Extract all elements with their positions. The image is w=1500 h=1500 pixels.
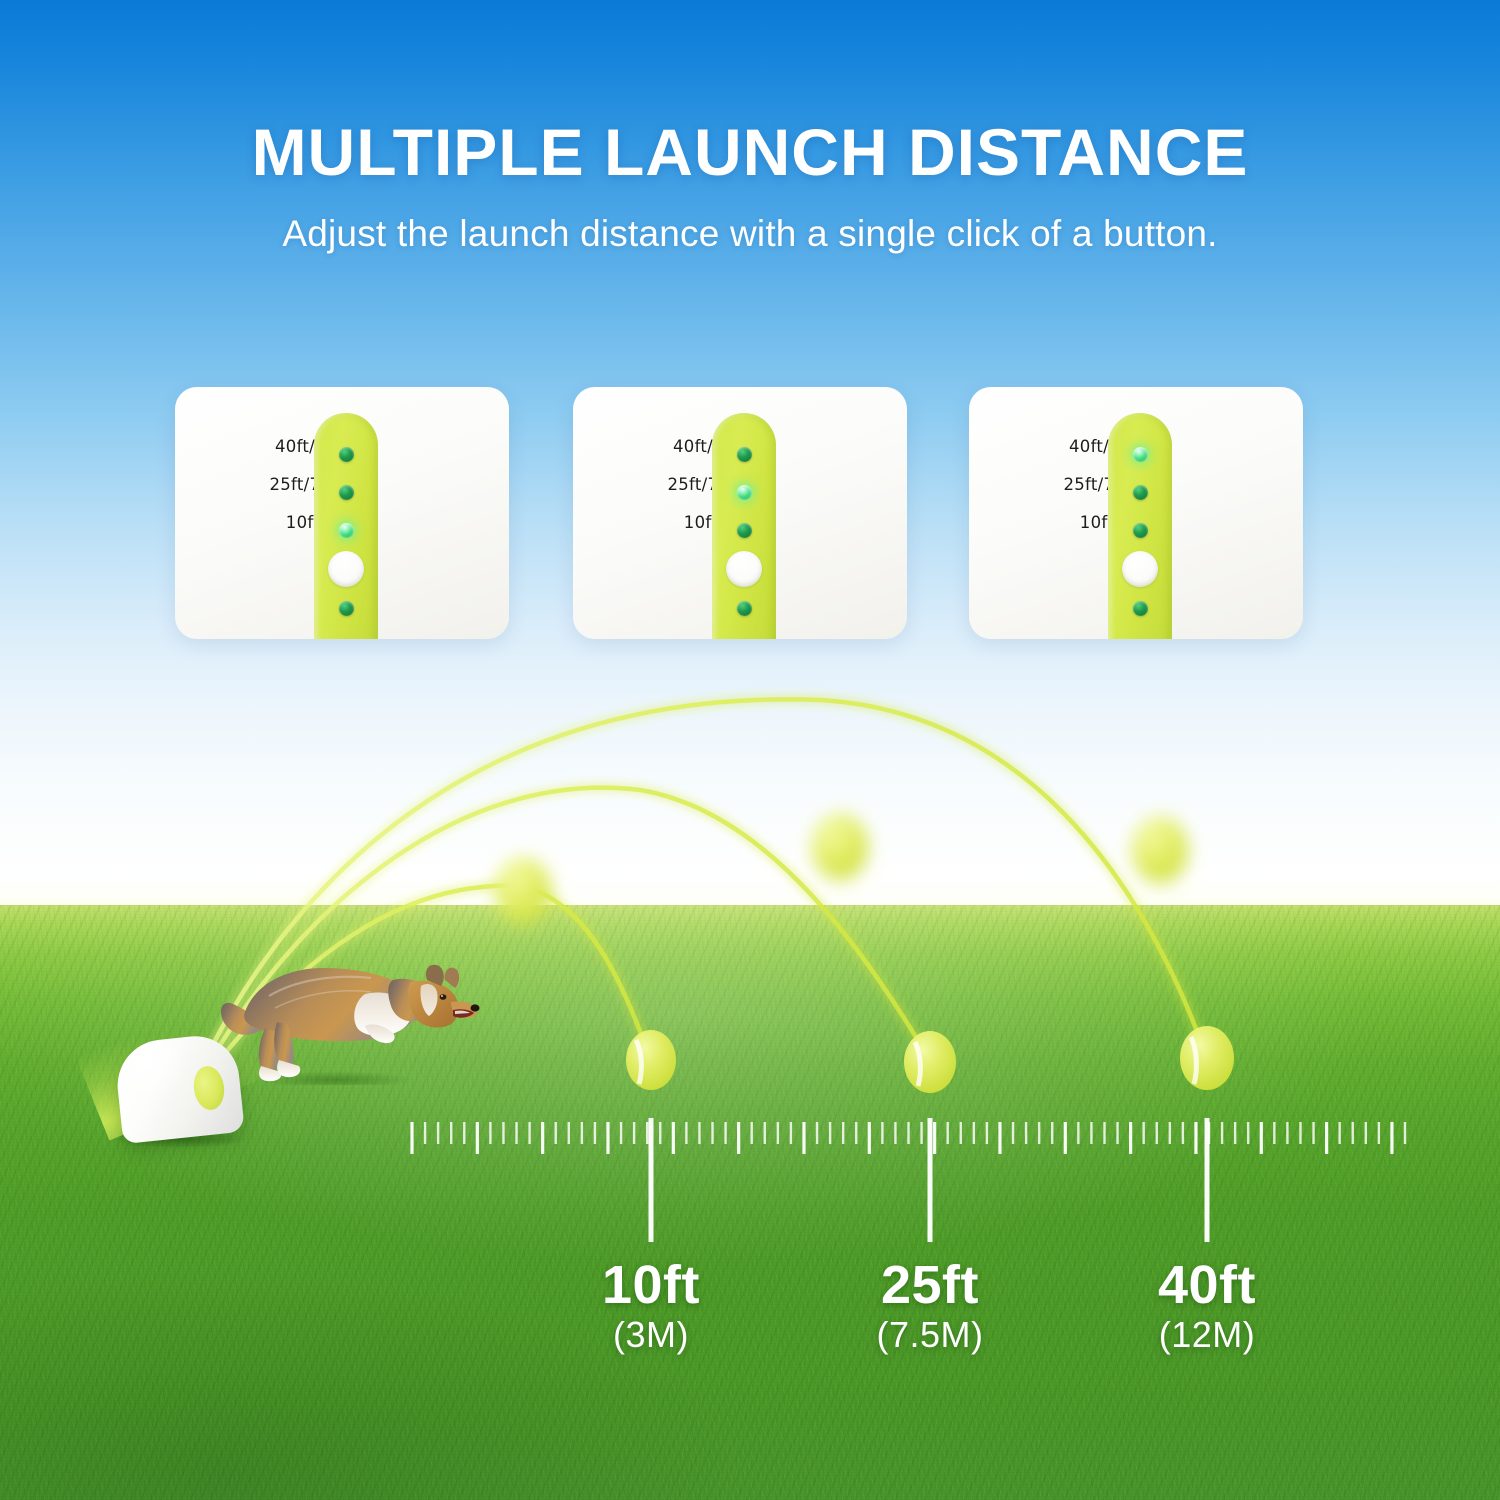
distance-label-10ft: 10ft (3M) [541, 1258, 761, 1357]
led-10ft-2 [737, 523, 752, 538]
led-25ft-3 [1133, 485, 1148, 500]
led-40ft-3 [1133, 447, 1148, 462]
control-panel-40ft[interactable]: 40ft/12m 25ft/7.5m 10ft/3m on [969, 387, 1303, 639]
led-10ft-1 [339, 523, 354, 538]
distance-feet-25ft: 25ft [820, 1258, 1040, 1312]
led-power-1 [339, 601, 354, 616]
distance-feet-10ft: 10ft [541, 1258, 761, 1312]
led-strip-1 [314, 413, 378, 639]
led-25ft-2 [737, 485, 752, 500]
distance-meters-10ft: (3M) [541, 1312, 761, 1357]
led-strip-2 [712, 413, 776, 639]
distance-feet-40ft: 40ft [1097, 1258, 1317, 1312]
led-power-3 [1133, 601, 1148, 616]
mode-button-3[interactable] [1122, 551, 1158, 587]
control-panel-25ft[interactable]: 40ft/12m 25ft/7.5m 10ft/3m on [573, 387, 907, 639]
led-power-2 [737, 601, 752, 616]
jumping-dog-sheltie [215, 950, 480, 1085]
infographic-stage: MULTIPLE LAUNCH DISTANCE Adjust the laun… [0, 0, 1500, 1500]
led-25ft-1 [339, 485, 354, 500]
led-40ft-1 [339, 447, 354, 462]
distance-meters-40ft: (12M) [1097, 1312, 1317, 1357]
distance-meters-25ft: (7.5M) [820, 1312, 1040, 1357]
led-40ft-2 [737, 447, 752, 462]
distance-label-40ft: 40ft (12M) [1097, 1258, 1317, 1357]
mode-button-2[interactable] [726, 551, 762, 587]
distance-label-25ft: 25ft (7.5M) [820, 1258, 1040, 1357]
control-panel-10ft[interactable]: 40ft/12m 25ft/7.5m 10ft/3m on [175, 387, 509, 639]
led-10ft-3 [1133, 523, 1148, 538]
led-strip-3 [1108, 413, 1172, 639]
mode-button-1[interactable] [328, 551, 364, 587]
